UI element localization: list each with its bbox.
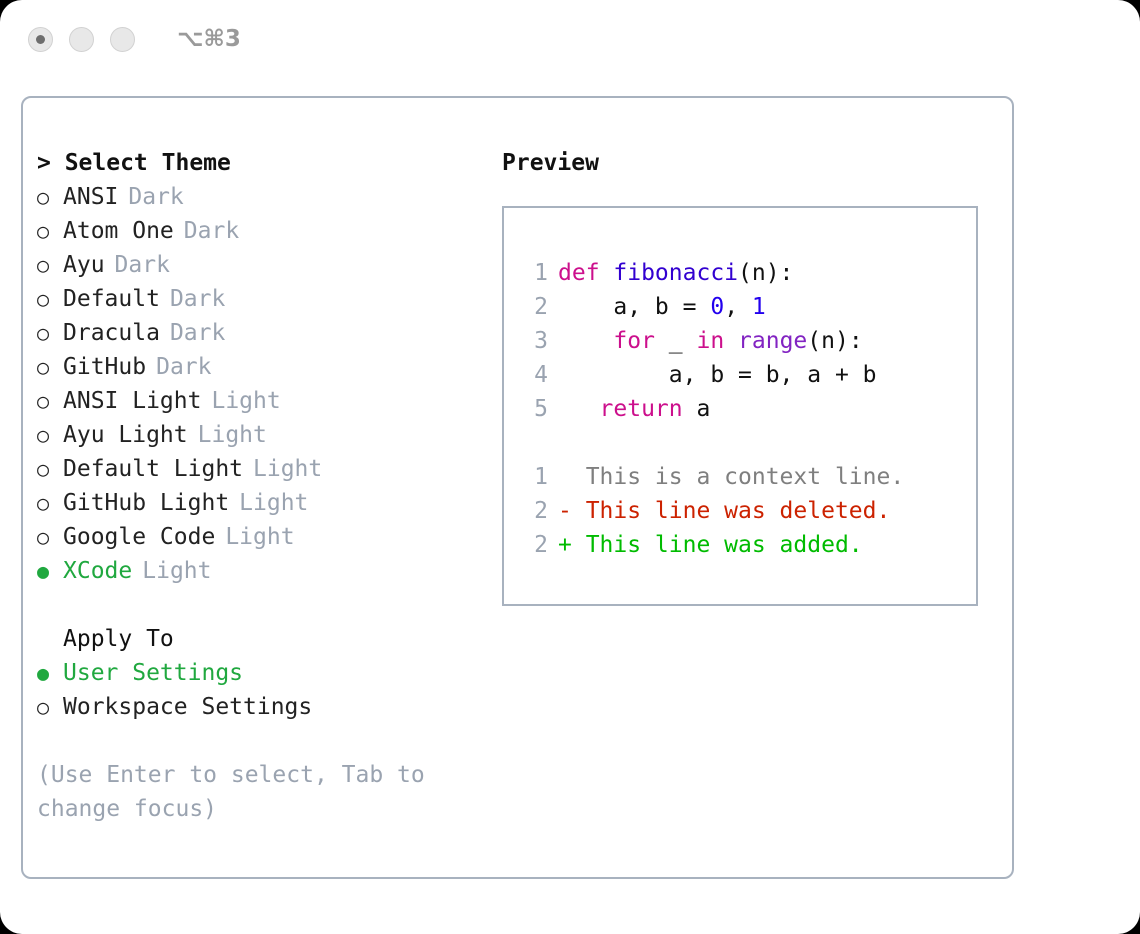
radio-unselected-icon: ○ bbox=[37, 418, 63, 452]
theme-item-variant-tag: Light bbox=[253, 452, 322, 486]
line-number: 1 bbox=[522, 460, 548, 494]
preview-box: 1def fibonacci(n):2 a, b = 0, 13 for _ i… bbox=[502, 206, 978, 606]
select-theme-heading: > Select Theme bbox=[37, 146, 487, 180]
code-token-fn: fibonacci bbox=[613, 260, 738, 286]
theme-item-dracula[interactable]: ○DraculaDark bbox=[37, 316, 487, 350]
line-number: 5 bbox=[522, 392, 548, 426]
diff-line-text: This is a context line. bbox=[558, 464, 904, 490]
app-window: ⌥⌘3 > Select Theme ○ANSIDark○Atom OneDar… bbox=[0, 0, 1140, 934]
theme-item-ansi[interactable]: ○ANSIDark bbox=[37, 180, 487, 214]
theme-item-ayu[interactable]: ○AyuDark bbox=[37, 248, 487, 282]
radio-unselected-icon: ○ bbox=[37, 690, 63, 724]
preview-column: Preview 1def fibonacci(n):2 a, b = 0, 13… bbox=[502, 146, 992, 606]
diff-line-add: 2+ This line was added. bbox=[522, 528, 976, 562]
apply-to-item-workspace-settings[interactable]: ○Workspace Settings bbox=[37, 690, 487, 724]
theme-selector-column: > Select Theme ○ANSIDark○Atom OneDark○Ay… bbox=[37, 146, 487, 826]
code-token-txt bbox=[558, 328, 613, 354]
code-token-txt: (n): bbox=[807, 328, 862, 354]
radio-unselected-icon: ○ bbox=[37, 486, 63, 520]
code-token-txt: a bbox=[683, 396, 711, 422]
theme-item-label: ANSI bbox=[63, 180, 118, 214]
window-controls bbox=[28, 27, 135, 52]
line-number: 2 bbox=[522, 494, 548, 528]
radio-unselected-icon: ○ bbox=[37, 282, 63, 316]
theme-item-label: Ayu Light bbox=[63, 418, 188, 452]
radio-unselected-icon: ○ bbox=[37, 180, 63, 214]
theme-item-label: Ayu bbox=[63, 248, 105, 282]
theme-item-github-light[interactable]: ○GitHub LightLight bbox=[37, 486, 487, 520]
window-dot-active-icon[interactable] bbox=[28, 27, 53, 52]
help-hint-text: (Use Enter to select, Tab to change focu… bbox=[37, 758, 447, 826]
theme-item-label: Default bbox=[63, 282, 160, 316]
radio-unselected-icon: ○ bbox=[37, 452, 63, 486]
apply-to-item-user-settings[interactable]: ●User Settings bbox=[37, 656, 487, 690]
theme-item-google-code[interactable]: ○Google CodeLight bbox=[37, 520, 487, 554]
code-token-num: 0 bbox=[710, 294, 724, 320]
title-bar: ⌥⌘3 bbox=[0, 0, 1140, 78]
line-number: 3 bbox=[522, 324, 548, 358]
line-number: 2 bbox=[522, 528, 548, 562]
theme-item-variant-tag: Dark bbox=[184, 214, 239, 248]
theme-item-variant-tag: Dark bbox=[156, 350, 211, 384]
theme-list: ○ANSIDark○Atom OneDark○AyuDark○DefaultDa… bbox=[37, 180, 487, 588]
apply-to-list: ●User Settings○Workspace Settings bbox=[37, 656, 487, 724]
theme-item-label: Default Light bbox=[63, 452, 243, 486]
theme-item-label: Google Code bbox=[63, 520, 215, 554]
diff-sample: 1 This is a context line.2- This line wa… bbox=[522, 460, 976, 562]
code-token-kw: def bbox=[558, 260, 613, 286]
apply-to-item-label: User Settings bbox=[63, 656, 243, 690]
theme-item-atom-one[interactable]: ○Atom OneDark bbox=[37, 214, 487, 248]
keyboard-shortcut-label: ⌥⌘3 bbox=[177, 26, 241, 52]
code-token-txt: , bbox=[724, 294, 752, 320]
code-sample: 1def fibonacci(n):2 a, b = 0, 13 for _ i… bbox=[522, 256, 976, 426]
code-line: 3 for _ in range(n): bbox=[522, 324, 976, 358]
line-number: 1 bbox=[522, 256, 548, 290]
code-token-bi: range bbox=[738, 328, 807, 354]
diff-line-ctx: 1 This is a context line. bbox=[522, 460, 976, 494]
radio-unselected-icon: ○ bbox=[37, 316, 63, 350]
code-token-txt: _ bbox=[655, 328, 697, 354]
radio-unselected-icon: ○ bbox=[37, 384, 63, 418]
theme-item-github[interactable]: ○GitHubDark bbox=[37, 350, 487, 384]
line-number: 2 bbox=[522, 290, 548, 324]
radio-unselected-icon: ○ bbox=[37, 248, 63, 282]
radio-selected-icon: ● bbox=[37, 554, 63, 588]
main-panel: > Select Theme ○ANSIDark○Atom OneDark○Ay… bbox=[21, 96, 1014, 879]
section-spacer bbox=[37, 588, 487, 622]
theme-item-variant-tag: Dark bbox=[170, 316, 225, 350]
dot-inner bbox=[36, 35, 45, 44]
theme-item-variant-tag: Light bbox=[225, 520, 294, 554]
diff-line-del: 2- This line was deleted. bbox=[522, 494, 976, 528]
theme-item-label: GitHub bbox=[63, 350, 146, 384]
code-token-txt: a, b = b, a + b bbox=[558, 362, 877, 388]
diff-line-text: - This line was deleted. bbox=[558, 498, 890, 524]
theme-item-label: Dracula bbox=[63, 316, 160, 350]
theme-item-default-light[interactable]: ○Default LightLight bbox=[37, 452, 487, 486]
theme-item-variant-tag: Dark bbox=[128, 180, 183, 214]
theme-item-variant-tag: Light bbox=[198, 418, 267, 452]
theme-item-label: Atom One bbox=[63, 214, 174, 248]
code-token-txt bbox=[724, 328, 738, 354]
radio-selected-icon: ● bbox=[37, 656, 63, 690]
theme-item-ayu-light[interactable]: ○Ayu LightLight bbox=[37, 418, 487, 452]
theme-item-label: XCode bbox=[63, 554, 132, 588]
window-dot-second-icon[interactable] bbox=[69, 27, 94, 52]
code-token-txt bbox=[558, 396, 600, 422]
code-token-txt: (n): bbox=[738, 260, 793, 286]
radio-unselected-icon: ○ bbox=[37, 350, 63, 384]
code-line: 2 a, b = 0, 1 bbox=[522, 290, 976, 324]
code-token-num: 1 bbox=[752, 294, 766, 320]
theme-item-variant-tag: Dark bbox=[115, 248, 170, 282]
radio-unselected-icon: ○ bbox=[37, 520, 63, 554]
radio-unselected-icon: ○ bbox=[37, 214, 63, 248]
theme-item-label: GitHub Light bbox=[63, 486, 229, 520]
theme-item-variant-tag: Light bbox=[142, 554, 211, 588]
theme-item-variant-tag: Light bbox=[211, 384, 280, 418]
theme-item-variant-tag: Dark bbox=[170, 282, 225, 316]
code-line: 1def fibonacci(n): bbox=[522, 256, 976, 290]
theme-item-ansi-light[interactable]: ○ANSI LightLight bbox=[37, 384, 487, 418]
preview-heading: Preview bbox=[502, 146, 992, 180]
theme-item-xcode[interactable]: ●XCodeLight bbox=[37, 554, 487, 588]
code-token-kw: for bbox=[613, 328, 655, 354]
apply-to-item-label: Workspace Settings bbox=[63, 690, 312, 724]
window-dot-third-icon[interactable] bbox=[110, 27, 135, 52]
diff-line-text: + This line was added. bbox=[558, 532, 863, 558]
code-token-kw: in bbox=[696, 328, 724, 354]
line-number: 4 bbox=[522, 358, 548, 392]
code-diff-separator bbox=[522, 426, 976, 460]
code-line: 4 a, b = b, a + b bbox=[522, 358, 976, 392]
code-token-txt: a, b = bbox=[558, 294, 710, 320]
code-token-kw: return bbox=[600, 396, 683, 422]
theme-item-variant-tag: Light bbox=[239, 486, 308, 520]
code-line: 5 return a bbox=[522, 392, 976, 426]
apply-to-heading: Apply To bbox=[37, 622, 487, 656]
theme-item-label: ANSI Light bbox=[63, 384, 201, 418]
theme-item-default[interactable]: ○DefaultDark bbox=[37, 282, 487, 316]
